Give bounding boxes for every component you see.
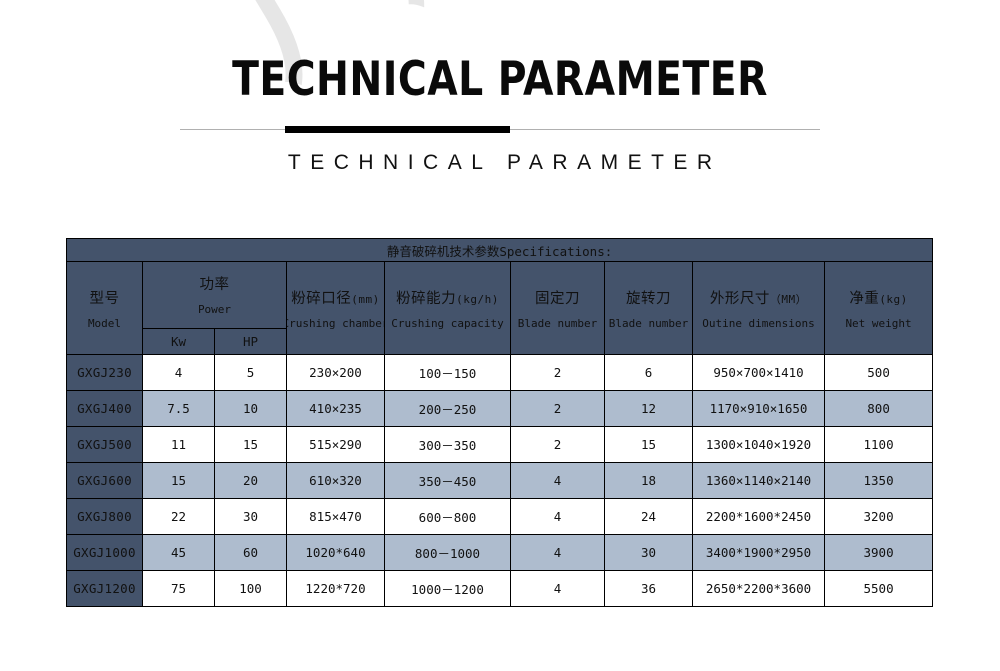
column-header-power-en: Power <box>198 303 231 316</box>
table-row: GXGJ800 22 30 815×470 600－800 4 24 2200*… <box>67 499 933 535</box>
cell-chamber: 1220*720 <box>287 571 385 607</box>
column-header-fixed-blade-cn: 固定刀 <box>535 287 580 308</box>
cell-capacity: 350－450 <box>385 463 511 499</box>
cell-hp: 15 <box>215 427 287 463</box>
column-subheader-kw: Kw <box>143 328 215 354</box>
cell-chamber: 1020*640 <box>287 535 385 571</box>
cell-capacity: 100－150 <box>385 355 511 391</box>
table-row: GXGJ1200 75 100 1220*720 1000－1200 4 36 … <box>67 571 933 607</box>
cell-dimensions: 1300×1040×1920 <box>693 427 825 463</box>
table-caption: 静音破碎机技术参数Specifications: <box>67 239 933 262</box>
cell-fixed-blade: 2 <box>511 427 605 463</box>
title-divider-accent <box>285 126 510 133</box>
column-header-rotary-blade-en: Blade number <box>609 317 688 330</box>
cell-capacity: 600－800 <box>385 499 511 535</box>
cell-capacity: 800－1000 <box>385 535 511 571</box>
column-header-fixed-blade-en: Blade number <box>518 317 597 330</box>
page-title: TECHNICAL PARAMETER <box>35 56 965 103</box>
cell-kw: 4 <box>143 355 215 391</box>
cell-dimensions: 2200*1600*2450 <box>693 499 825 535</box>
cell-kw: 45 <box>143 535 215 571</box>
cell-fixed-blade: 4 <box>511 499 605 535</box>
column-header-rotary-blade-cn: 旋转刀 <box>626 287 671 308</box>
column-header-net-weight: 净重(kg) Net weight <box>825 262 933 355</box>
cell-fixed-blade: 4 <box>511 463 605 499</box>
cell-rotary-blade: 18 <box>605 463 693 499</box>
cell-weight: 3900 <box>825 535 933 571</box>
cell-weight: 500 <box>825 355 933 391</box>
column-header-crushing-chamber-cn: 粉碎口径(mm) <box>291 287 380 308</box>
page-subtitle: TECHNICAL PARAMETER <box>0 151 1000 175</box>
column-header-net-weight-cn: 净重(kg) <box>849 287 908 308</box>
column-header-crushing-capacity: 粉碎能力(kg/h) Crushing capacity <box>385 262 511 355</box>
cell-hp: 5 <box>215 355 287 391</box>
cell-hp: 60 <box>215 535 287 571</box>
cell-weight: 1350 <box>825 463 933 499</box>
cell-fixed-blade: 2 <box>511 355 605 391</box>
cell-chamber: 230×200 <box>287 355 385 391</box>
column-header-model-en: Model <box>88 317 121 330</box>
column-header-crushing-capacity-en: Crushing capacity <box>391 317 504 330</box>
column-header-power: 功率 Power <box>143 262 287 329</box>
column-header-outline-dimensions-cn: 外形尺寸（MM） <box>710 287 807 308</box>
cell-weight: 1100 <box>825 427 933 463</box>
cell-hp: 100 <box>215 571 287 607</box>
cell-capacity: 300－350 <box>385 427 511 463</box>
cell-kw: 11 <box>143 427 215 463</box>
cell-chamber: 515×290 <box>287 427 385 463</box>
cell-chamber: 610×320 <box>287 463 385 499</box>
cell-model: GXGJ1200 <box>67 571 143 607</box>
table-row: GXGJ600 15 20 610×320 350－450 4 18 1360×… <box>67 463 933 499</box>
cell-weight: 3200 <box>825 499 933 535</box>
column-header-fixed-blade: 固定刀 Blade number <box>511 262 605 355</box>
cell-capacity: 1000－1200 <box>385 571 511 607</box>
cell-rotary-blade: 36 <box>605 571 693 607</box>
table-header-row: 型号 Model 功率 Power 粉碎口径(mm) Crushing cham… <box>67 262 933 329</box>
cell-kw: 7.5 <box>143 391 215 427</box>
spec-table-container: 静音破碎机技术参数Specifications: 型号 Model 功率 Pow… <box>66 238 932 607</box>
cell-hp: 20 <box>215 463 287 499</box>
cell-hp: 10 <box>215 391 287 427</box>
cell-fixed-blade: 2 <box>511 391 605 427</box>
cell-fixed-blade: 4 <box>511 571 605 607</box>
cell-model: GXGJ800 <box>67 499 143 535</box>
page-header: TECHNICAL PARAMETER TECHNICAL PARAMETER <box>0 0 1000 175</box>
cell-dimensions: 2650*2200*3600 <box>693 571 825 607</box>
cell-rotary-blade: 12 <box>605 391 693 427</box>
column-header-crushing-capacity-cn: 粉碎能力(kg/h) <box>396 287 499 308</box>
cell-capacity: 200－250 <box>385 391 511 427</box>
column-header-model: 型号 Model <box>67 262 143 355</box>
cell-rotary-blade: 6 <box>605 355 693 391</box>
cell-rotary-blade: 24 <box>605 499 693 535</box>
cell-kw: 15 <box>143 463 215 499</box>
cell-kw: 75 <box>143 571 215 607</box>
cell-weight: 800 <box>825 391 933 427</box>
column-header-crushing-chamber-en: Crushing chamber <box>287 317 385 330</box>
cell-model: GXGJ400 <box>67 391 143 427</box>
specifications-table: 静音破碎机技术参数Specifications: 型号 Model 功率 Pow… <box>66 238 933 607</box>
column-header-outline-dimensions-en: Outine dimensions <box>702 317 815 330</box>
cell-chamber: 815×470 <box>287 499 385 535</box>
title-divider <box>180 125 820 134</box>
column-subheader-hp: HP <box>215 328 287 354</box>
cell-model: GXGJ500 <box>67 427 143 463</box>
table-caption-row: 静音破碎机技术参数Specifications: <box>67 239 933 262</box>
table-row: GXGJ500 11 15 515×290 300－350 2 15 1300×… <box>67 427 933 463</box>
cell-hp: 30 <box>215 499 287 535</box>
column-header-model-cn: 型号 <box>90 287 120 308</box>
cell-rotary-blade: 30 <box>605 535 693 571</box>
column-header-outline-dimensions: 外形尺寸（MM） Outine dimensions <box>693 262 825 355</box>
cell-weight: 5500 <box>825 571 933 607</box>
cell-dimensions: 1170×910×1650 <box>693 391 825 427</box>
column-header-power-cn: 功率 <box>200 273 230 294</box>
cell-dimensions: 1360×1140×2140 <box>693 463 825 499</box>
cell-chamber: 410×235 <box>287 391 385 427</box>
table-row: GXGJ230 4 5 230×200 100－150 2 6 950×700×… <box>67 355 933 391</box>
cell-dimensions: 3400*1900*2950 <box>693 535 825 571</box>
cell-dimensions: 950×700×1410 <box>693 355 825 391</box>
cell-model: GXGJ1000 <box>67 535 143 571</box>
table-row: GXGJ400 7.5 10 410×235 200－250 2 12 1170… <box>67 391 933 427</box>
column-header-crushing-chamber: 粉碎口径(mm) Crushing chamber <box>287 262 385 355</box>
cell-rotary-blade: 15 <box>605 427 693 463</box>
cell-fixed-blade: 4 <box>511 535 605 571</box>
cell-kw: 22 <box>143 499 215 535</box>
column-header-rotary-blade: 旋转刀 Blade number <box>605 262 693 355</box>
cell-model: GXGJ600 <box>67 463 143 499</box>
column-header-net-weight-en: Net weight <box>845 317 911 330</box>
cell-model: GXGJ230 <box>67 355 143 391</box>
table-row: GXGJ1000 45 60 1020*640 800－1000 4 30 34… <box>67 535 933 571</box>
